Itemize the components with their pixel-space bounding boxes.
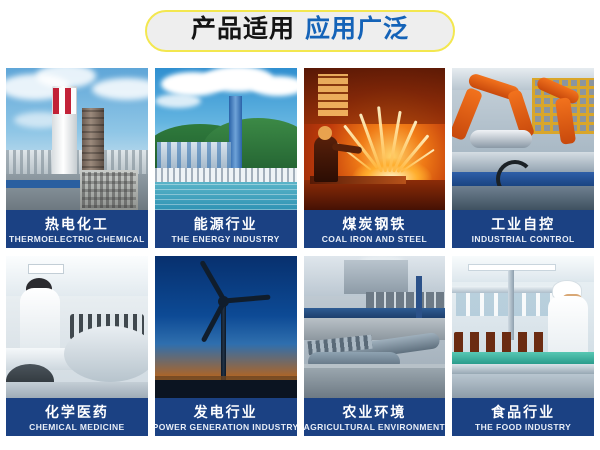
grid-cell-chemical-medicine[interactable]: 化学医药 CHEMICAL MEDICINE (6, 256, 148, 436)
industrial-control-image (452, 68, 594, 210)
grid-cell-power-generation[interactable]: 发电行业 POWER GENERATION INDUSTRY (155, 256, 297, 436)
title-text-highlight: 应用广泛 (305, 17, 409, 42)
caption-en: THERMOELECTRIC CHEMICAL (9, 235, 145, 244)
caption: 能源行业 THE ENERGY INDUSTRY (155, 210, 297, 248)
caption-cn: 食品行业 (491, 404, 555, 420)
grid-cell-thermoelectric-chemical[interactable]: 热电化工 THERMOELECTRIC CHEMICAL (6, 68, 148, 248)
caption-cn: 工业自控 (491, 216, 555, 232)
energy-industry-image (155, 68, 297, 210)
grid-cell-industrial-control[interactable]: 工业自控 INDUSTRIAL CONTROL (452, 68, 594, 248)
chemical-medicine-image (6, 256, 148, 398)
caption: 工业自控 INDUSTRIAL CONTROL (452, 210, 594, 248)
food-industry-image (452, 256, 594, 398)
caption: 食品行业 THE FOOD INDUSTRY (452, 398, 594, 436)
caption-cn: 化学医药 (45, 404, 109, 420)
title-pill: 产品适用 应用广泛 (145, 10, 455, 52)
caption-cn: 热电化工 (45, 216, 109, 232)
caption-en: POWER GENERATION INDUSTRY (155, 423, 297, 432)
title-text-primary: 产品适用 (191, 17, 295, 42)
caption: 煤炭钢铁 COAL IRON AND STEEL (304, 210, 446, 248)
caption-en: THE ENERGY INDUSTRY (172, 235, 280, 244)
power-generation-image (155, 256, 297, 398)
caption-cn: 能源行业 (194, 216, 258, 232)
caption-en: THE FOOD INDUSTRY (475, 423, 571, 432)
grid-cell-coal-iron-steel[interactable]: 煤炭钢铁 COAL IRON AND STEEL (304, 68, 446, 248)
caption-en: INDUSTRIAL CONTROL (472, 235, 575, 244)
caption-cn: 发电行业 (194, 404, 258, 420)
grid-cell-food-industry[interactable]: 食品行业 THE FOOD INDUSTRY (452, 256, 594, 436)
caption-en: CHEMICAL MEDICINE (29, 423, 124, 432)
product-application-banner: 产品适用 应用广泛 热电化工 THERMOELECTRIC CHEMICAL (0, 0, 600, 450)
caption: 发电行业 POWER GENERATION INDUSTRY (155, 398, 297, 436)
caption-en: AGRICULTURAL ENVIRONMENT (304, 423, 446, 432)
caption-cn: 煤炭钢铁 (342, 216, 406, 232)
caption: 热电化工 THERMOELECTRIC CHEMICAL (6, 210, 148, 248)
caption: 化学医药 CHEMICAL MEDICINE (6, 398, 148, 436)
grid-cell-agricultural-environment[interactable]: 农业环境 AGRICULTURAL ENVIRONMENT (304, 256, 446, 436)
coal-iron-steel-image (304, 68, 446, 210)
caption: 农业环境 AGRICULTURAL ENVIRONMENT (304, 398, 446, 436)
application-grid: 热电化工 THERMOELECTRIC CHEMICAL 能源行业 THE EN… (6, 68, 594, 436)
thermoelectric-chemical-image (6, 68, 148, 210)
page-title: 产品适用 应用广泛 (0, 0, 600, 62)
agricultural-environment-image (304, 256, 446, 398)
grid-cell-energy-industry[interactable]: 能源行业 THE ENERGY INDUSTRY (155, 68, 297, 248)
caption-cn: 农业环境 (342, 404, 406, 420)
caption-en: COAL IRON AND STEEL (322, 235, 427, 244)
